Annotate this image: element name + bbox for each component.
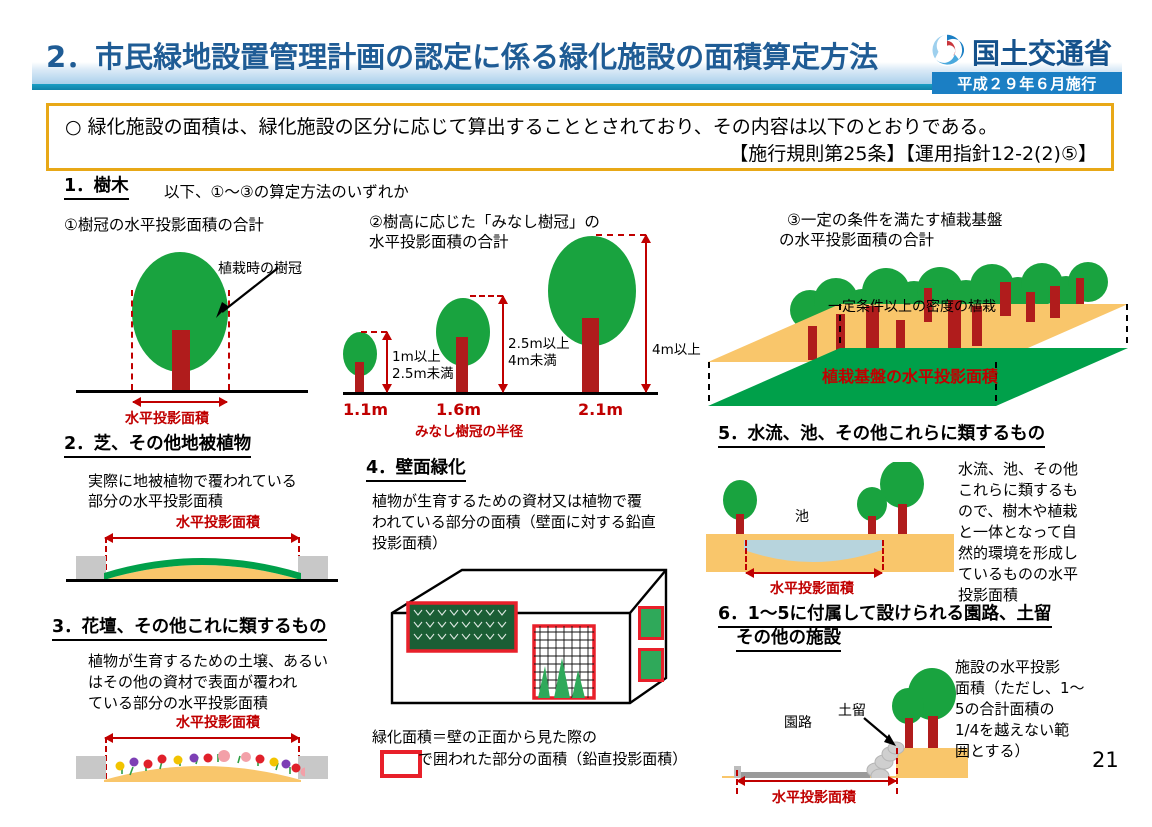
radius-label-large: 2.1m [578, 400, 623, 419]
section-5-left-guide [745, 540, 747, 570]
section-6-measure-label: 水平投影面積 [772, 787, 856, 807]
red-box-legend-icon [380, 750, 422, 778]
section-6-desc-line4: 1/4を越えない範 [955, 721, 1069, 741]
radius-label-mid: 1.6m [436, 400, 481, 419]
section-4-desc-line1: 植物が生育するための資材又は植物で覆 [372, 492, 642, 512]
mlit-swirl-logo-icon [930, 33, 964, 67]
planting-base-plane-label: 植栽基盤の水平投影面積 [822, 363, 998, 387]
section-2-heading: 2．芝、その他地被植物 [64, 434, 251, 458]
section-1-heading: 1．樹木 [64, 176, 129, 200]
pond-cross-section [700, 462, 960, 572]
projection-label: 水平投影面積 [125, 408, 209, 428]
section-4-formula-line2: で囲われた部分の面積（鉛直投影面積） [418, 750, 687, 770]
method-3-label-line2: の水平投影面積の合計 [779, 228, 934, 250]
height-range-small-line2: 2.5m未満 [392, 362, 454, 382]
projection-left-guide [131, 290, 133, 390]
section-5-desc-line2: これらに類するも [958, 481, 1078, 501]
flowerbed-mound-shape [100, 744, 305, 782]
tree-trunk-large [582, 318, 599, 392]
section-5-heading: 5．水流、池、その他これらに類するもの [718, 424, 1045, 448]
garden-path-cross-section [700, 648, 970, 778]
section-5-desc-line4: と一体となって自 [958, 523, 1077, 543]
deemed-crown-radius-caption: みなし樹冠の半径 [415, 420, 523, 440]
height-guide-large [596, 234, 646, 236]
radius-label-small: 1.1m [343, 400, 388, 419]
section-6-measure-arrow [737, 780, 896, 782]
section-6-desc-line1: 施設の水平投影 [955, 658, 1060, 678]
ground-line [76, 390, 308, 393]
section-5-desc-line6: ているものの水平 [958, 565, 1078, 585]
garden-path-label: 園路 [784, 712, 812, 732]
section-3-desc-line1: 植物が生育するための土壌、あるい [88, 652, 328, 672]
lead-statement-box: ○ 緑化施設の面積は、緑化施設の区分に応じて算出することとされており、その内容は… [46, 103, 1114, 171]
section-2-ground-line [66, 579, 338, 582]
section-3-desc-line3: ている部分の水平投影面積 [88, 694, 268, 714]
lead-text-line1: ○ 緑化施設の面積は、緑化施設の区分に応じて算出することとされており、その内容は… [65, 112, 998, 139]
pond-label: 池 [795, 506, 809, 526]
section-6-right-guide [896, 748, 898, 794]
page-number: 21 [1092, 748, 1119, 772]
tree-trunk-mid [456, 337, 468, 392]
height-arrow-small [386, 332, 388, 392]
section-2-measure-label: 水平投影面積 [176, 512, 260, 532]
section-6-desc-line5: 囲とする） [955, 742, 1030, 762]
section-6-heading-line1: 6．1～5に付属して設けられる園路、土留 [718, 604, 1052, 628]
section-4-heading: 4．壁面緑化 [366, 458, 466, 482]
section-1-note: 以下、①～③の算定方法のいずれか [164, 180, 409, 202]
section-5-desc-line7: 投影面積 [958, 586, 1018, 606]
slide-root: 2．市民緑地設置管理計画の認定に係る緑化施設の面積算定方法 国土交通省 平成２９… [0, 0, 1152, 827]
method-3-label-line1: ③一定の条件を満たす植栽基盤 [787, 208, 1002, 230]
section-5-measure-arrow [746, 572, 882, 574]
height-range-mid-line2: 4m未満 [508, 349, 557, 369]
section-3-heading: 3．花壇、その他これに類するもの [52, 617, 327, 641]
lead-reference-line: 【施行規則第25条】【運用指針12-2(2)⑤】 [729, 139, 1097, 166]
section-5-desc-line1: 水流、池、その他 [958, 460, 1078, 480]
section-2-desc-line2: 部分の水平投影面積 [88, 492, 223, 512]
planting-density-note: 一定条件以上の密度の植栽 [828, 296, 996, 316]
section-5-right-guide [882, 540, 884, 570]
tree-trunk-small [355, 362, 364, 392]
slide-header: 2．市民緑地設置管理計画の認定に係る緑化施設の面積算定方法 国土交通省 平成２９… [0, 0, 1152, 96]
section-6-desc-line2: 面積（ただし、1～ [955, 679, 1085, 699]
effective-date-badge: 平成２９年６月施行 [932, 72, 1122, 94]
retaining-callout-arrow-icon [862, 716, 902, 750]
section-3-desc-line2: はその他の資材で表面が覆われ [88, 673, 297, 693]
section-5-measure-label: 水平投影面積 [770, 578, 854, 598]
method-2-label-line2: 水平投影面積の合計 [369, 230, 509, 252]
section-3-measure-arrow [105, 737, 299, 739]
section-5-desc-line5: 然的環境を形成し [958, 544, 1078, 564]
section-5-desc-line3: ので、樹木や植栽 [958, 502, 1077, 522]
section-4-desc-line3: 投影面積） [372, 534, 447, 554]
section-2-desc-line1: 実際に地被植物で覆われている [88, 472, 297, 492]
lawn-mound-shape [100, 540, 305, 582]
section-4-desc-line2: われている部分の面積（壁面に対する鉛直 [372, 513, 656, 533]
height-arrow-mid [502, 296, 504, 392]
crown-callout-label: 植栽時の樹冠 [218, 258, 302, 278]
section-2-measure-arrow [105, 537, 299, 539]
method-1-label: ①樹冠の水平投影面積の合計 [64, 213, 264, 235]
section-4-formula-line1: 緑化面積＝壁の正面から見た際の [372, 728, 597, 748]
height-arrow-large [645, 235, 647, 392]
method-2-label-line1: ②樹高に応じた「みなし樹冠」の [369, 210, 600, 232]
page-title: 2．市民緑地設置管理計画の認定に係る緑化施設の面積算定方法 [46, 34, 878, 76]
wall-greening-3d-diagram [382, 558, 672, 723]
projection-arrow [133, 401, 227, 403]
section-6-desc-line3: 5の合計面積の [955, 700, 1055, 720]
tree-trunk [172, 330, 190, 390]
section-3-measure-label: 水平投影面積 [176, 712, 260, 732]
ministry-name: 国土交通省 [972, 32, 1112, 72]
